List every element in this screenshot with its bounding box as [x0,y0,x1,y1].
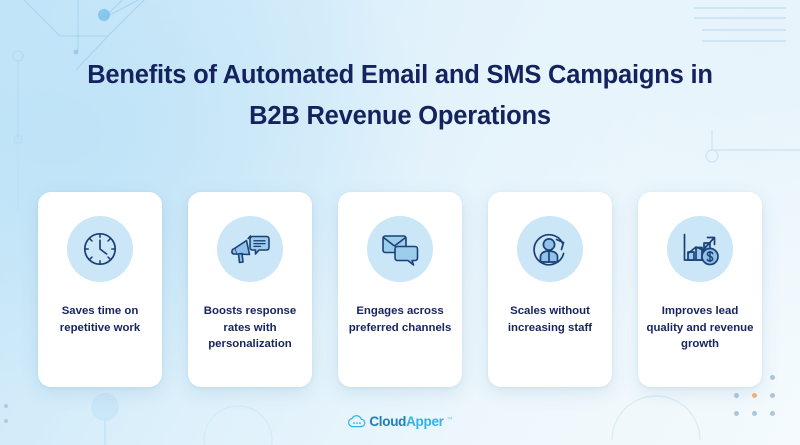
benefit-card[interactable]: Improves lead quality and revenue growth [638,192,762,387]
benefit-card-label: Boosts response rates with personalizati… [188,303,312,353]
benefit-card-label: Engages across preferred channels [338,303,462,336]
page-title: Benefits of Automated Email and SMS Camp… [0,55,800,137]
envelope-speech-bubble-icon [367,216,433,282]
clock-icon [67,216,133,282]
logo-text-cloud: Cloud [369,414,406,429]
logo-trademark: ™ [447,417,453,423]
benefit-card[interactable]: Saves time on repetitive work [38,192,162,387]
growth-chart-dollar-icon [667,216,733,282]
benefit-card-list: Saves time on repetitive work [38,192,762,387]
cloudapper-logo[interactable]: CloudApper ™ [0,414,800,429]
benefit-card[interactable]: Boosts response rates with personalizati… [188,192,312,387]
infographic-slide: Benefits of Automated Email and SMS Camp… [0,0,800,445]
logo-text: CloudApper [369,414,443,429]
decor-node-filled [98,9,110,21]
benefit-card[interactable]: Scales without increasing staff [488,192,612,387]
benefit-card-label: Scales without increasing staff [488,303,612,336]
person-refresh-arrow-icon [517,216,583,282]
benefit-card-label: Improves lead quality and revenue growth [638,303,762,353]
decor-lines-topright [694,8,786,41]
cloud-icon [347,414,366,429]
benefit-card[interactable]: Engages across preferred channels [338,192,462,387]
benefit-card-label: Saves time on repetitive work [38,303,162,336]
megaphone-speech-bubble-icon [217,216,283,282]
logo-text-apper: Apper [406,414,444,429]
